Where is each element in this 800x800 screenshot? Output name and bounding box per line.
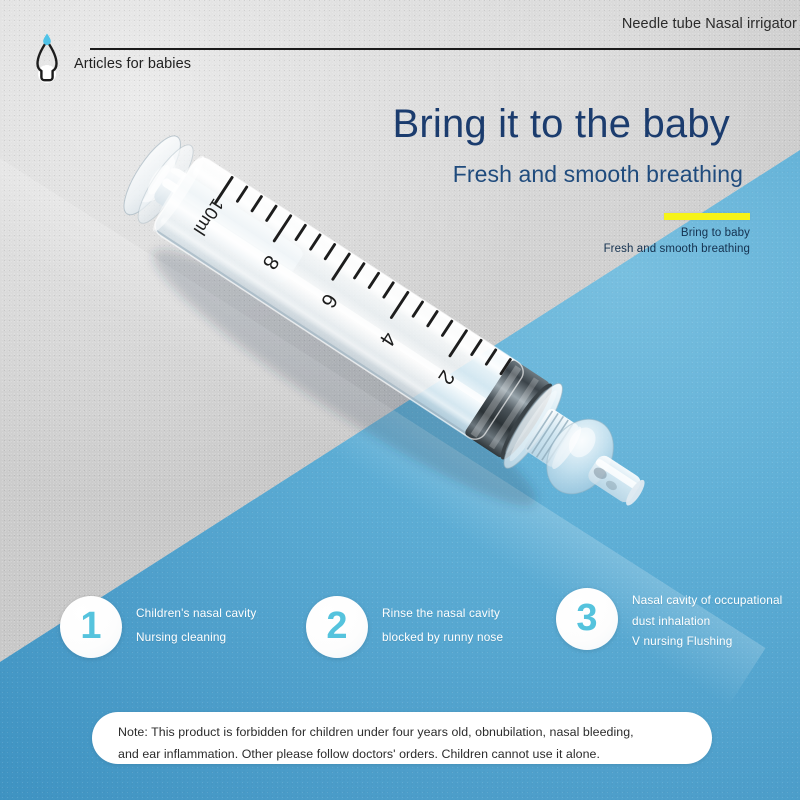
feature-line: V nursing Flushing xyxy=(632,631,800,652)
disclaimer-note: Note: This product is forbidden for chil… xyxy=(92,712,712,764)
note-line-1: Note: This product is forbidden for chil… xyxy=(118,721,686,743)
feature-list: 1 Children's nasal cavity Nursing cleani… xyxy=(0,0,800,800)
note-line-2: and ear inflammation. Other please follo… xyxy=(118,743,686,765)
feature-line: blocked by runny nose xyxy=(382,626,572,650)
feature-line: dust inhalation xyxy=(632,611,800,632)
feature-number: 1 xyxy=(80,607,101,645)
feature-number-badge: 1 xyxy=(60,596,122,658)
feature-text: Children's nasal cavity Nursing cleaning xyxy=(136,602,326,649)
feature-line: Rinse the nasal cavity xyxy=(382,602,572,626)
feature-line: Nursing cleaning xyxy=(136,626,326,650)
feature-text: Nasal cavity of occupational dust inhala… xyxy=(632,590,800,652)
feature-text: Rinse the nasal cavity blocked by runny … xyxy=(382,602,572,649)
feature-number-badge: 3 xyxy=(556,588,618,650)
feature-line: Children's nasal cavity xyxy=(136,602,326,626)
feature-number: 2 xyxy=(326,607,347,645)
advertisement-canvas: Articles for babies Needle tube Nasal ir… xyxy=(0,0,800,800)
feature-line: Nasal cavity of occupational xyxy=(632,590,800,611)
feature-number: 3 xyxy=(576,599,597,637)
feature-number-badge: 2 xyxy=(306,596,368,658)
